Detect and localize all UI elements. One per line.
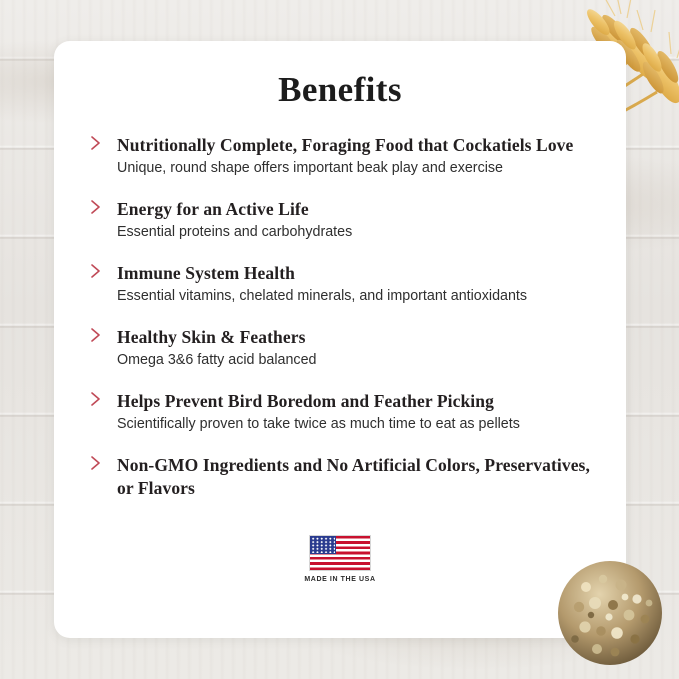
chevron-right-icon (90, 136, 102, 150)
benefit-heading: Healthy Skin & Feathers (117, 326, 592, 349)
benefits-card: Benefits Nutritionally Complete, Foragin… (54, 41, 626, 638)
made-in-usa-caption: MADE IN THE USA (54, 576, 626, 583)
benefit-subtext: Omega 3&6 fatty acid balanced (117, 351, 592, 370)
usa-flag-icon (309, 535, 371, 571)
list-item: Energy for an Active Life Essential prot… (88, 198, 592, 242)
benefit-subtext: Essential proteins and carbohydrates (117, 223, 592, 242)
benefit-subtext: Unique, round shape offers important bea… (117, 159, 592, 178)
chevron-right-icon (90, 200, 102, 214)
benefit-heading: Nutritionally Complete, Foraging Food th… (117, 134, 592, 157)
chevron-right-icon (90, 392, 102, 406)
chevron-right-icon (90, 456, 102, 470)
benefit-heading: Immune System Health (117, 262, 592, 285)
made-in-usa-badge: MADE IN THE USA (54, 535, 626, 583)
list-item: Healthy Skin & Feathers Omega 3&6 fatty … (88, 326, 592, 370)
page-title: Benefits (54, 41, 626, 110)
benefit-subtext: Essential vitamins, chelated minerals, a… (117, 287, 592, 306)
chevron-right-icon (90, 328, 102, 342)
benefit-heading: Helps Prevent Bird Boredom and Feather P… (117, 390, 592, 413)
list-item: Non-GMO Ingredients and No Artificial Co… (88, 454, 592, 500)
chevron-right-icon (90, 264, 102, 278)
list-item: Nutritionally Complete, Foraging Food th… (88, 134, 592, 178)
benefits-list: Nutritionally Complete, Foraging Food th… (54, 110, 626, 500)
list-item: Helps Prevent Bird Boredom and Feather P… (88, 390, 592, 434)
benefit-subtext: Scientifically proven to take twice as m… (117, 415, 592, 434)
benefit-heading: Non-GMO Ingredients and No Artificial Co… (117, 454, 592, 500)
page-background: Benefits Nutritionally Complete, Foragin… (0, 0, 679, 679)
list-item: Immune System Health Essential vitamins,… (88, 262, 592, 306)
benefit-heading: Energy for an Active Life (117, 198, 592, 221)
